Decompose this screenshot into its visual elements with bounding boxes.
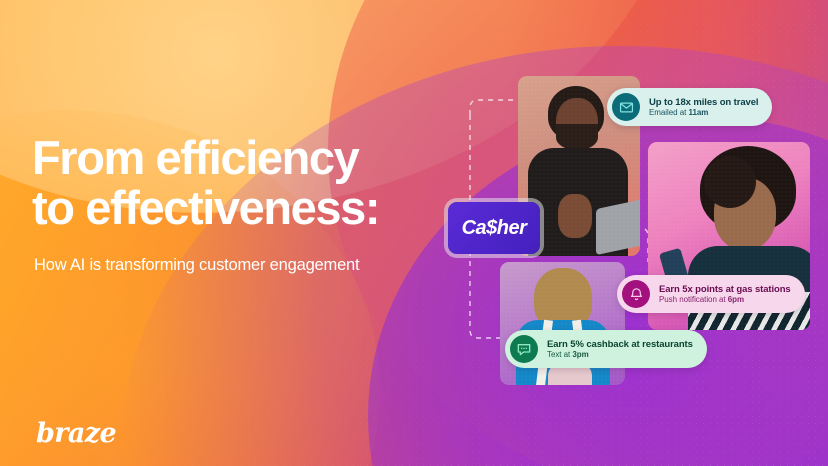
envelope-icon xyxy=(612,93,640,121)
notification-sub-value: 3pm xyxy=(572,350,588,359)
notification-title: Up to 18x miles on travel xyxy=(649,97,758,108)
notification-sub-prefix: Text at xyxy=(547,350,572,359)
notification-subtitle: Push notification at 6pm xyxy=(659,295,791,304)
notification-title: Earn 5% cashback at restaurants xyxy=(547,339,693,350)
notification-card-push[interactable]: Earn 5x points at gas stations Push noti… xyxy=(617,275,805,313)
page-title: From efficiency to effectiveness: xyxy=(32,133,452,233)
notification-sub-prefix: Push notification at xyxy=(659,295,728,304)
notification-card-email[interactable]: Up to 18x miles on travel Emailed at 11a… xyxy=(607,88,772,126)
brand-card-label: Ca$her xyxy=(462,217,527,240)
notification-sub-value: 6pm xyxy=(728,295,744,304)
headline-line-2: to effectiveness: xyxy=(32,183,452,233)
notification-title: Earn 5x points at gas stations xyxy=(659,284,791,295)
chat-bubble-icon xyxy=(510,335,538,363)
page-subtitle: How AI is transforming customer engageme… xyxy=(34,255,464,276)
bell-icon xyxy=(622,280,650,308)
braze-logo-wordmark: braze xyxy=(36,418,116,449)
brand-card-casher[interactable]: Ca$her xyxy=(448,202,540,254)
headline-line-1: From efficiency xyxy=(32,133,452,183)
notification-sub-prefix: Emailed at xyxy=(649,108,688,117)
notification-sub-value: 11am xyxy=(688,108,708,117)
slide-canvas: Ca$her Up to 18x miles on travel Emailed… xyxy=(0,0,828,466)
notification-card-sms[interactable]: Earn 5% cashback at restaurants Text at … xyxy=(505,330,707,368)
notification-subtitle: Emailed at 11am xyxy=(649,108,758,117)
notification-subtitle: Text at 3pm xyxy=(547,350,693,359)
